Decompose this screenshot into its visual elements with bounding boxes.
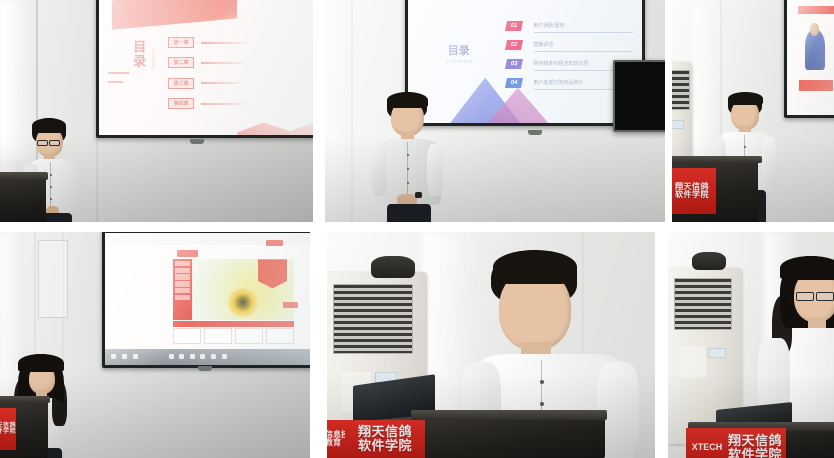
banner-line-2: 软件学院 <box>358 439 412 453</box>
glasses-icon <box>37 140 48 146</box>
slide-item-num: 第三章 <box>168 78 194 89</box>
photo-bottom-left[interactable]: 翔天信鸽 软件学院 <box>0 232 310 458</box>
projector-screen-top-right <box>784 0 834 118</box>
podium-banner: 翔天信鸽 软件学院 <box>345 420 425 458</box>
wall-mounted-tv <box>613 60 665 132</box>
slide-poster-red <box>787 0 834 115</box>
banner-line-2: 软件学院 <box>0 429 16 435</box>
glasses-icon <box>49 140 60 146</box>
podium-banner: 翔天信鸽 软件学院 <box>0 408 16 450</box>
slide-item-num: 02 <box>505 40 523 50</box>
photo-top-left[interactable]: 目录 CONTENTS 第一章 第二章 第三章 <box>0 0 313 222</box>
photo-collage: 目录 CONTENTS 第一章 第二章 第三章 <box>0 0 834 458</box>
projector-screen-bottom-left <box>102 232 310 368</box>
slide-item-text: 用户未返订购商品统计 <box>533 79 583 86</box>
slide-item-num: 第一章 <box>168 37 194 48</box>
web-nav-column <box>173 259 192 320</box>
wristwatch <box>415 192 422 198</box>
slide-contents-red: 目录 CONTENTS 第一章 第二章 第三章 <box>99 0 313 135</box>
podium-top <box>411 410 607 420</box>
banner-line-1: 翔天信鸽 <box>358 425 412 439</box>
photo-top-middle[interactable]: 目录 Contents 01 用户活跃/留存 02 营销评估 <box>325 0 665 222</box>
podium-banner: 翔天信鸽 软件学院 <box>724 428 786 458</box>
slide-item-num: 01 <box>505 21 523 31</box>
banner-line-2: 软件学院 <box>728 448 782 458</box>
slide-item-text: 购买频率与经济年龄分层 <box>533 60 588 67</box>
slide-item-num: 第二章 <box>168 57 194 68</box>
photo-top-right[interactable]: 翔天信鸽 软件学院 <box>672 0 834 222</box>
slide-item-num: 04 <box>505 78 523 88</box>
podium-top <box>0 396 50 403</box>
glasses-icon <box>796 292 814 301</box>
slide-subtitle: Contents <box>445 59 473 65</box>
slide-title: 目录 <box>448 42 470 58</box>
podium <box>0 176 46 222</box>
air-conditioner-cap <box>371 256 415 278</box>
slide-subtitle: CONTENTS <box>151 48 156 70</box>
slide-item-text: 营销评估 <box>533 41 553 48</box>
banner-line-2: 软件学院 <box>675 191 709 199</box>
glasses-icon <box>816 292 834 301</box>
podium-banner-left: XTECH <box>686 428 728 458</box>
slide-item-num: 第四章 <box>168 98 194 109</box>
podium-banner: 翔天信鸽 软件学院 <box>672 168 716 214</box>
banner-left-line-2: XTECH <box>692 443 723 452</box>
photo-bottom-right[interactable]: XTECH 翔天信鸽 软件学院 <box>668 232 834 458</box>
wall-poster <box>38 240 68 318</box>
slide-item-num: 03 <box>505 59 523 69</box>
podium-top <box>672 156 762 163</box>
podium <box>415 416 605 458</box>
photo-bottom-middle[interactable]: 信息技术教育 翔天信鸽 软件学院 <box>327 232 655 458</box>
person-presenter <box>371 92 457 222</box>
slide-item-text: 用户活跃/留存 <box>533 22 564 29</box>
air-conditioner-cap <box>692 252 726 270</box>
projector-screen-top-left: 目录 CONTENTS 第一章 第二章 第三章 <box>96 0 313 138</box>
slide-title: 目录 <box>129 40 148 68</box>
windows-taskbar <box>105 349 310 365</box>
podium-top <box>0 172 48 180</box>
slide-web-page-red <box>105 233 310 365</box>
banner-line-1: 翔天信鸽 <box>728 434 782 448</box>
